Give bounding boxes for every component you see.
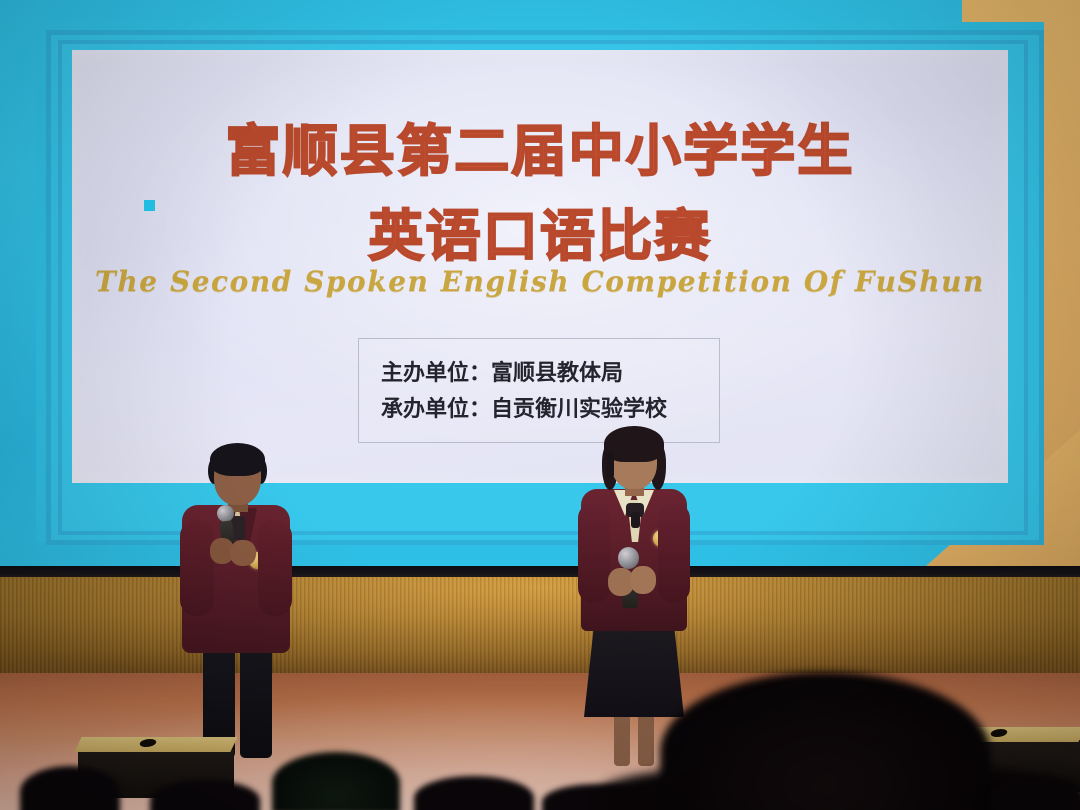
- boy-arm-left: [180, 520, 214, 616]
- audience-head: [20, 766, 120, 810]
- monitor-left-top: [74, 737, 237, 752]
- boy-leg-right: [240, 648, 272, 758]
- slide-title-line-1: 富顺县第二届中小学学生: [72, 106, 1008, 186]
- boy-arm-right: [258, 520, 292, 616]
- organizer-undertaker-line: 承办单位：自贡衡川实验学校: [381, 391, 697, 427]
- stage-photo: 富顺县第二届中小学学生 英语口语比赛 The Second Spoken Eng…: [0, 0, 1080, 810]
- girl-arm-right: [658, 503, 690, 603]
- organizer-host-line: 主办单位：富顺县教体局: [381, 355, 697, 391]
- slide-title-line-2: 英语口语比赛: [72, 191, 1008, 271]
- audience-head: [272, 752, 400, 810]
- girl-microphone-head: [618, 547, 639, 569]
- organizer-info-box: 主办单位：富顺县教体局 承办单位：自贡衡川实验学校: [358, 338, 720, 443]
- boy-hair: [210, 443, 265, 476]
- girl-hand-right: [630, 566, 656, 594]
- girl-skirt: [584, 625, 684, 717]
- girl-arm-left: [578, 503, 610, 603]
- wall-wood-panel-shading: [0, 577, 1080, 675]
- girl-bow-tie-knot: [631, 512, 640, 528]
- slide-subtitle-english: The Second Spoken English Competition Of…: [72, 265, 1008, 298]
- girl-leg-right: [638, 714, 654, 766]
- headset-microphone-icon: [607, 452, 614, 478]
- girl-leg-left: [614, 714, 630, 766]
- projection-screen: 富顺县第二届中小学学生 英语口语比赛 The Second Spoken Eng…: [72, 50, 1008, 483]
- boy-hand-right: [230, 540, 256, 566]
